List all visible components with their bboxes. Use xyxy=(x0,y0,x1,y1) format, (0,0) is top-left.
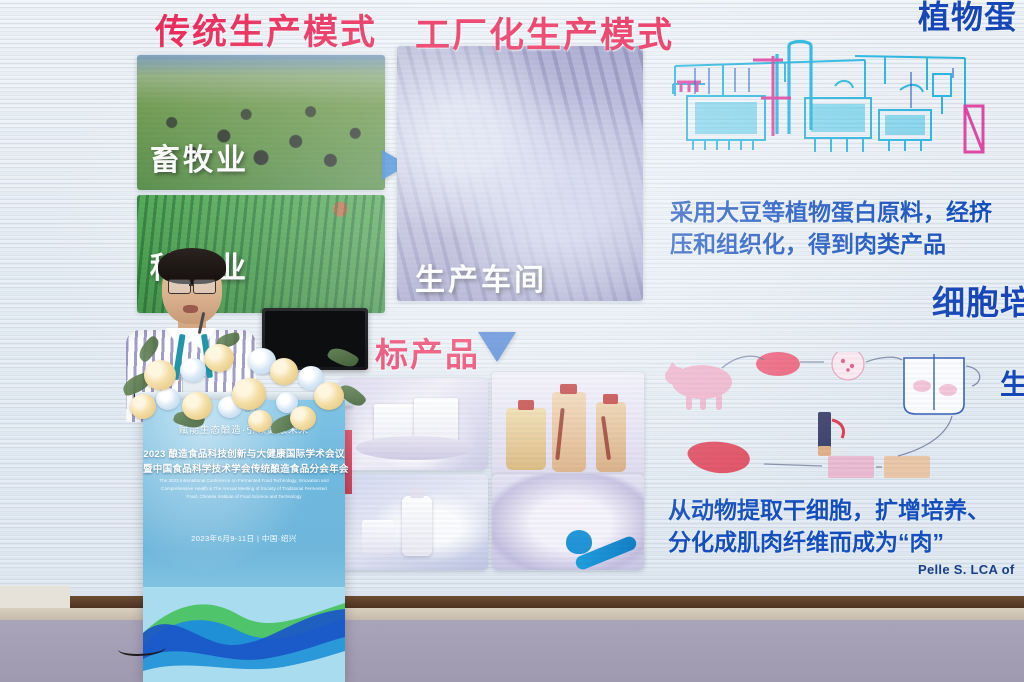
speaker-glasses-left xyxy=(168,279,191,294)
text-cell-culture-description: 从动物提取干细胞，扩增培养、分化成肌肉纤维而成为“肉” xyxy=(668,494,1008,558)
heading-cell-culture: 细胞培 xyxy=(932,276,1024,324)
podium-title-line1: 2023 酿造食品科技创新与大健康国际学术会议 xyxy=(143,448,345,463)
label-workshop: 生产车间 xyxy=(415,255,547,299)
text-plant-protein-description: 采用大豆等植物蛋白原料，经挤压和组织化，得到肉类产品 xyxy=(670,196,1000,260)
speaker-hair xyxy=(158,248,226,284)
podium-title-line2: 暨中国食品科学技术学会传统酿造食品分会年会 xyxy=(143,463,345,478)
floral-arrangement xyxy=(120,330,370,435)
podium-date-location: 2023年6月9-11日 | 中国·绍兴 xyxy=(143,533,345,544)
extrusion-equipment-schematic xyxy=(665,38,995,178)
photo-milk-products xyxy=(340,474,488,570)
cell-culture-process-diagram xyxy=(660,352,1005,492)
speaker-glasses-right xyxy=(193,279,216,294)
podium-english-subtitle: The 2023 International Conference on Fer… xyxy=(143,477,345,500)
heading-factory-mode: 工厂化生产模式 xyxy=(415,7,674,58)
photo-infused-bottles xyxy=(492,372,644,476)
heading-traditional-mode: 传统生产模式 xyxy=(155,4,377,55)
podium-conference-title: 2023 酿造食品科技创新与大健康国际学术会议 暨中国食品科学技术学会传统酿造食… xyxy=(143,448,345,478)
speaker-mouth xyxy=(183,305,198,313)
conference-stage-photo: 畜牧业 种植业 生产车间 xyxy=(0,0,1024,682)
heading-plant-protein: 植物蛋 xyxy=(918,0,1017,38)
speaker-glasses-bridge xyxy=(189,284,194,286)
citation-text: Pelle S. LCA of xyxy=(918,562,1014,577)
photo-bowl-with-ladle xyxy=(492,474,644,570)
arrow-down-icon xyxy=(478,332,516,362)
label-livestock: 畜牧业 xyxy=(150,135,249,179)
podium-panel: 赋能生态酿造·引领健康未来 2023 酿造食品科技创新与大健康国际学术会议 暨中… xyxy=(143,400,345,682)
heading-partial-right: 生 xyxy=(1000,363,1024,403)
podium-wave-graphic xyxy=(143,587,345,682)
stage-left-block xyxy=(0,586,70,608)
